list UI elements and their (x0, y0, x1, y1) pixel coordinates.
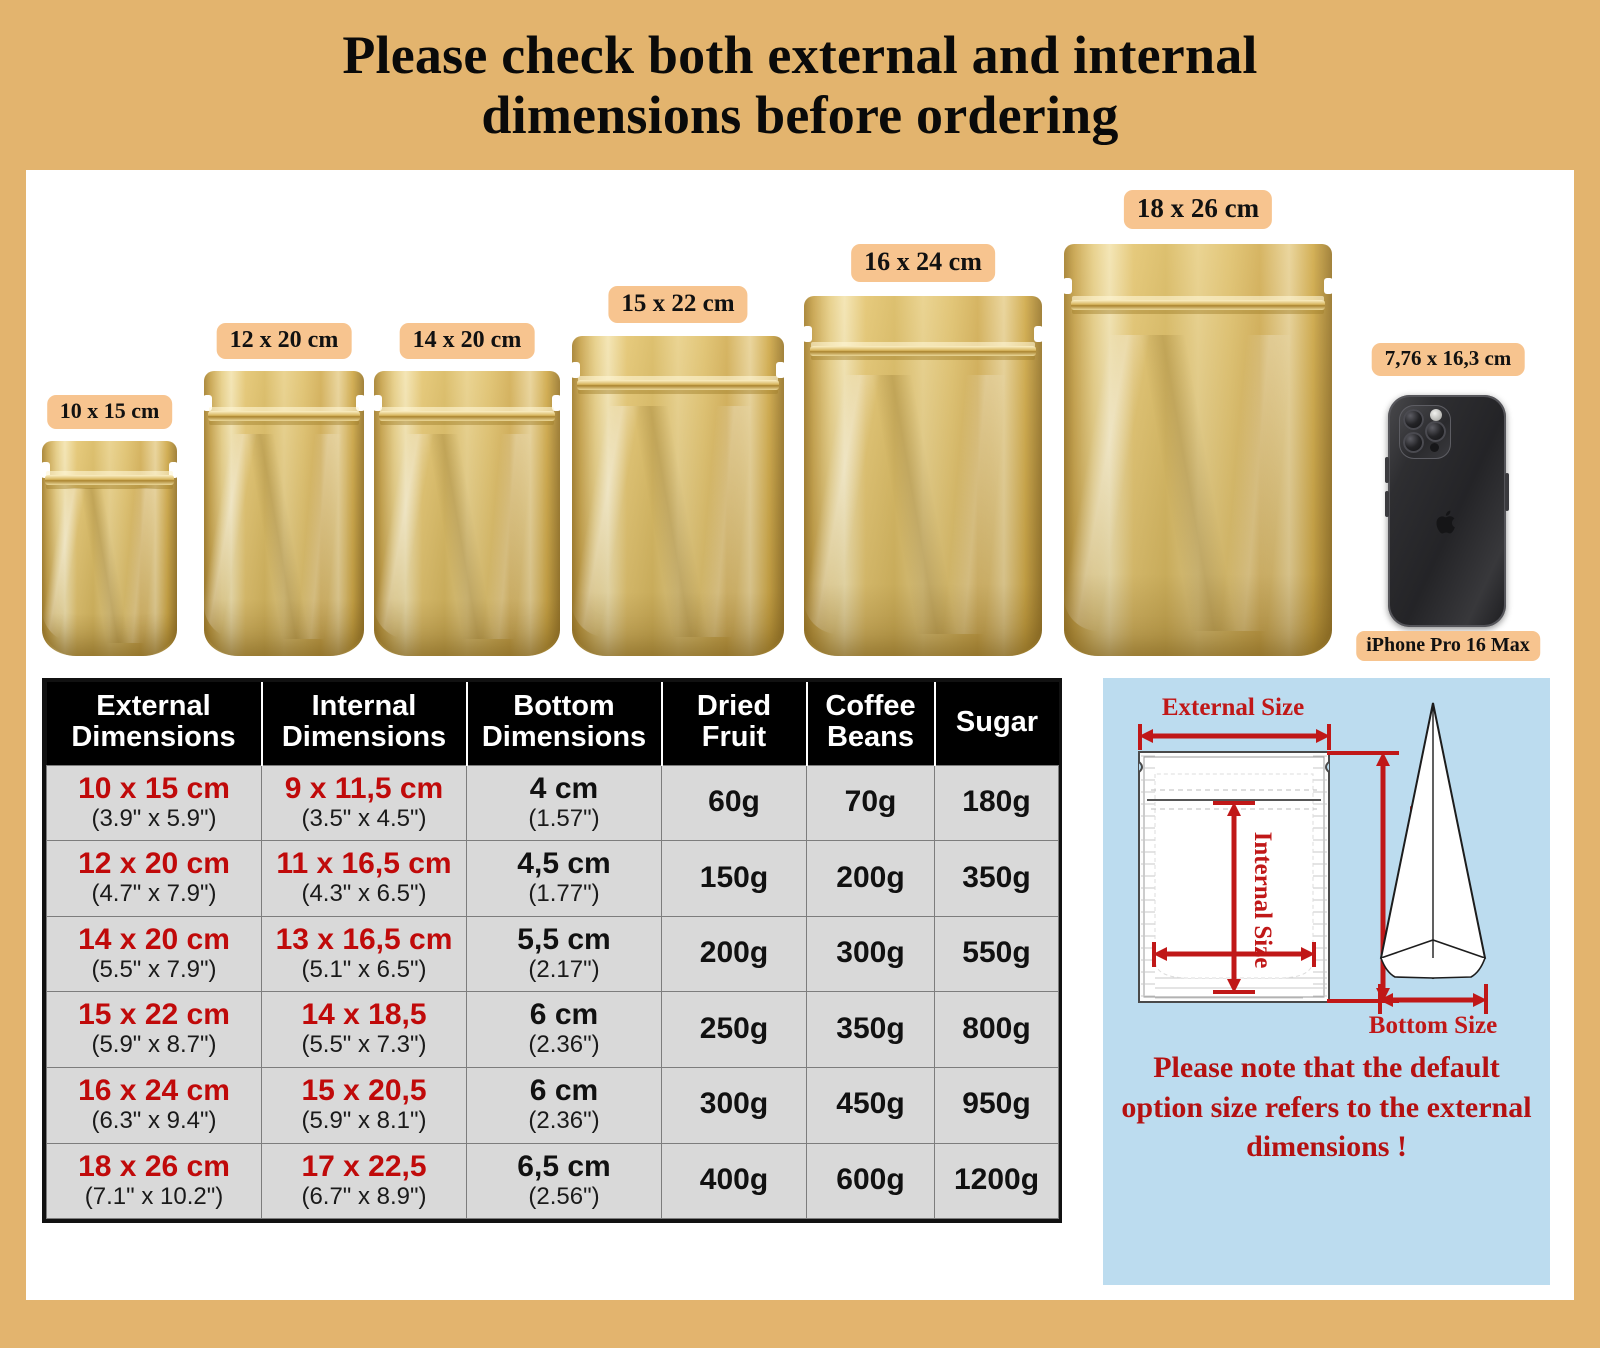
cell-external_cm: 14 x 20 cm(5.5" x 7.9") (47, 916, 262, 992)
value-inch: (3.9" x 5.9") (49, 805, 259, 833)
cell-bottom_cm: 6 cm(2.36") (467, 992, 662, 1068)
value-weight: 300g (664, 1087, 804, 1121)
value-inch: (4.7" x 7.9") (49, 880, 259, 908)
value-weight: 60g (664, 785, 804, 819)
cell-internal_cm: 9 x 11,5 cm(3.5" x 4.5") (262, 765, 467, 841)
size-tag-14x20: 14 x 20 cm (400, 323, 535, 359)
dimensions-table: External Dimensions Internal Dimensions … (42, 678, 1062, 1223)
cell-coffee_beans: 200g (807, 841, 935, 917)
pouch-15x22: 15 x 22 cm (572, 336, 784, 656)
value-weight: 200g (664, 936, 804, 970)
value-inch: (3.5" x 4.5") (264, 805, 464, 833)
cell-external_cm: 10 x 15 cm(3.9" x 5.9") (47, 765, 262, 841)
value-inch: (2.17") (469, 956, 659, 984)
value-inch: (6.3" x 9.4") (49, 1107, 259, 1135)
cell-external_cm: 16 x 24 cm(6.3" x 9.4") (47, 1068, 262, 1144)
cell-internal_cm: 14 x 18,5(5.5" x 7.3") (262, 992, 467, 1068)
size-tag-10x15: 10 x 15 cm (47, 395, 173, 429)
value-inch: (1.77") (469, 880, 659, 908)
cell-sugar: 350g (935, 841, 1059, 917)
gold-pouch-graphic (42, 441, 177, 656)
table-row: 14 x 20 cm(5.5" x 7.9")13 x 16,5 cm(5.1"… (47, 916, 1059, 992)
table-row: 16 x 24 cm(6.3" x 9.4")15 x 20,5(5.9" x … (47, 1068, 1059, 1144)
pouch-10x15: 10 x 15 cm (42, 441, 177, 656)
value-inch: (4.3" x 6.5") (264, 880, 464, 908)
label-external-width: External Size (1162, 694, 1304, 721)
cell-dried_fruit: 400g (662, 1143, 807, 1219)
cell-internal_cm: 11 x 16,5 cm(4.3" x 6.5") (262, 841, 467, 917)
cell-external_cm: 18 x 26 cm(7.1" x 10.2") (47, 1143, 262, 1219)
cell-coffee_beans: 600g (807, 1143, 935, 1219)
value-weight: 70g (809, 785, 932, 819)
cell-bottom_cm: 4,5 cm(1.77") (467, 841, 662, 917)
value-cm: 15 x 22 cm (49, 998, 259, 1031)
table-row: 12 x 20 cm(4.7" x 7.9")11 x 16,5 cm(4.3"… (47, 841, 1059, 917)
table-header-row: External Dimensions Internal Dimensions … (47, 682, 1059, 765)
iphone-caption: iPhone Pro 16 Max (1356, 631, 1540, 661)
value-inch: (7.1" x 10.2") (49, 1183, 259, 1211)
value-weight: 250g (664, 1012, 804, 1046)
value-inch: (5.9" x 8.7") (49, 1031, 259, 1059)
col-bottom-dimensions: Bottom Dimensions (467, 682, 662, 765)
value-weight: 950g (937, 1087, 1056, 1121)
value-inch: (1.57") (469, 805, 659, 833)
table-body: 10 x 15 cm(3.9" x 5.9")9 x 11,5 cm(3.5" … (47, 765, 1059, 1219)
size-chart-page: Please check both external and internal … (0, 0, 1600, 1348)
value-inch: (5.5" x 7.3") (264, 1031, 464, 1059)
size-tag-18x26: 18 x 26 cm (1124, 190, 1272, 229)
value-cm: 4 cm (469, 772, 659, 805)
cell-bottom_cm: 5,5 cm(2.17") (467, 916, 662, 992)
cell-sugar: 550g (935, 916, 1059, 992)
value-inch: (5.1" x 6.5") (264, 956, 464, 984)
cell-internal_cm: 13 x 16,5 cm(5.1" x 6.5") (262, 916, 467, 992)
col-sugar: Sugar (935, 682, 1059, 765)
pouch-16x24: 16 x 24 cm (804, 296, 1042, 656)
page-title: Please check both external and internal … (225, 25, 1375, 146)
value-inch: (6.7" x 8.9") (264, 1183, 464, 1211)
gold-pouch-graphic (804, 296, 1042, 656)
table-row: 10 x 15 cm(3.9" x 5.9")9 x 11,5 cm(3.5" … (47, 765, 1059, 841)
cell-sugar: 180g (935, 765, 1059, 841)
cell-dried_fruit: 60g (662, 765, 807, 841)
value-cm: 18 x 26 cm (49, 1150, 259, 1183)
cell-dried_fruit: 150g (662, 841, 807, 917)
table-row: 15 x 22 cm(5.9" x 8.7")14 x 18,5(5.5" x … (47, 992, 1059, 1068)
value-inch: (5.9" x 8.1") (264, 1107, 464, 1135)
value-cm: 6 cm (469, 998, 659, 1031)
value-cm: 15 x 20,5 (264, 1074, 464, 1107)
value-inch: (2.36") (469, 1107, 659, 1135)
col-internal-dimensions: Internal Dimensions (262, 682, 467, 765)
cell-dried_fruit: 200g (662, 916, 807, 992)
value-cm: 13 x 16,5 cm (264, 923, 464, 956)
value-cm: 16 x 24 cm (49, 1074, 259, 1107)
cell-external_cm: 15 x 22 cm(5.9" x 8.7") (47, 992, 262, 1068)
pouch-18x26: 18 x 26 cm (1064, 244, 1332, 656)
value-cm: 4,5 cm (469, 847, 659, 880)
header-banner: Please check both external and internal … (0, 0, 1600, 170)
value-inch: (2.36") (469, 1031, 659, 1059)
cell-bottom_cm: 6 cm(2.36") (467, 1068, 662, 1144)
value-weight: 150g (664, 861, 804, 895)
value-weight: 180g (937, 785, 1056, 819)
camera-module-icon (1399, 405, 1451, 459)
col-dried-fruit: Dried Fruit (662, 682, 807, 765)
cell-coffee_beans: 70g (807, 765, 935, 841)
gold-pouch-graphic (1064, 244, 1332, 656)
size-tag-12x20: 12 x 20 cm (217, 323, 352, 359)
value-inch: (2.56") (469, 1183, 659, 1211)
cell-dried_fruit: 300g (662, 1068, 807, 1144)
value-cm: 10 x 15 cm (49, 772, 259, 805)
value-weight: 600g (809, 1163, 932, 1197)
value-weight: 350g (937, 861, 1056, 895)
value-weight: 350g (809, 1012, 932, 1046)
cell-coffee_beans: 450g (807, 1068, 935, 1144)
size-tag-15x22: 15 x 22 cm (608, 286, 747, 323)
cell-internal_cm: 17 x 22,5(6.7" x 8.9") (262, 1143, 467, 1219)
cell-external_cm: 12 x 20 cm(4.7" x 7.9") (47, 841, 262, 917)
col-external-dimensions: External Dimensions (47, 682, 262, 765)
value-weight: 200g (809, 861, 932, 895)
gold-pouch-graphic (374, 371, 560, 656)
label-bottom-size: Bottom Size (1369, 1012, 1497, 1038)
default-size-note: Please note that the default option size… (1115, 1048, 1538, 1167)
cell-coffee_beans: 350g (807, 992, 935, 1068)
cell-sugar: 950g (935, 1068, 1059, 1144)
cell-bottom_cm: 4 cm(1.57") (467, 765, 662, 841)
label-internal-size: Internal Size (1249, 832, 1276, 969)
iphone-body (1388, 395, 1506, 627)
value-cm: 6,5 cm (469, 1150, 659, 1183)
pouch-12x20: 12 x 20 cm (204, 371, 364, 656)
table-row: 18 x 26 cm(7.1" x 10.2")17 x 22,5(6.7" x… (47, 1143, 1059, 1219)
value-weight: 550g (937, 936, 1056, 970)
value-cm: 5,5 cm (469, 923, 659, 956)
cell-sugar: 1200g (935, 1143, 1059, 1219)
value-weight: 450g (809, 1087, 932, 1121)
cell-bottom_cm: 6,5 cm(2.56") (467, 1143, 662, 1219)
value-weight: 800g (937, 1012, 1056, 1046)
size-explanation-panel: External Size External Size Internal Siz… (1103, 678, 1550, 1285)
value-cm: 11 x 16,5 cm (264, 847, 464, 880)
value-cm: 14 x 20 cm (49, 923, 259, 956)
value-weight: 300g (809, 936, 932, 970)
pouch-lineup: 10 x 15 cm 12 x 20 cm (26, 176, 1574, 656)
size-tag-iphone: 7,76 x 16,3 cm (1372, 343, 1525, 376)
pouch-dimension-diagram: External Size External Size Internal Siz… (1103, 678, 1550, 1038)
value-cm: 17 x 22,5 (264, 1150, 464, 1183)
value-weight: 400g (664, 1163, 804, 1197)
apple-logo-icon (1434, 507, 1460, 537)
value-cm: 14 x 18,5 (264, 998, 464, 1031)
value-cm: 12 x 20 cm (49, 847, 259, 880)
gold-pouch-graphic (572, 336, 784, 656)
value-cm: 9 x 11,5 cm (264, 772, 464, 805)
size-tag-16x24: 16 x 24 cm (851, 244, 995, 282)
cell-coffee_beans: 300g (807, 916, 935, 992)
value-inch: (5.5" x 7.9") (49, 956, 259, 984)
gold-pouch-graphic (204, 371, 364, 656)
pouch-14x20: 14 x 20 cm (374, 371, 560, 656)
cell-dried_fruit: 250g (662, 992, 807, 1068)
iphone-reference: 7,76 x 16,3 cm iPhone Pro 16 Max (1388, 395, 1508, 645)
value-cm: 6 cm (469, 1074, 659, 1107)
cell-internal_cm: 15 x 20,5(5.9" x 8.1") (262, 1068, 467, 1144)
col-coffee-beans: Coffee Beans (807, 682, 935, 765)
value-weight: 1200g (937, 1163, 1056, 1197)
cell-sugar: 800g (935, 992, 1059, 1068)
